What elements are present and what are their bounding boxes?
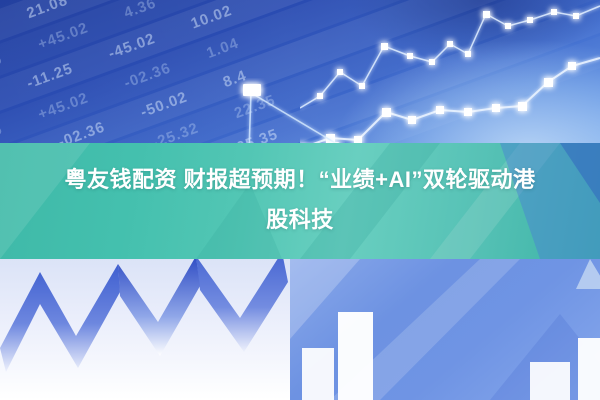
node-chart-upper-line xyxy=(300,6,600,108)
glowing-node-lamp-icon xyxy=(225,78,345,153)
headline-line-2: 股科技 xyxy=(0,200,600,240)
ribbon-segment-mid xyxy=(118,256,200,356)
shine-arrow-tip xyxy=(576,259,600,289)
ribbon-arrow-chart xyxy=(0,252,330,400)
white-bar-chart xyxy=(290,300,600,400)
financial-news-banner: -06.35 -11.25 21.08 45.02 -02.36 -02.36 … xyxy=(0,0,600,400)
bar-item xyxy=(338,312,373,400)
lamp-head xyxy=(243,84,261,96)
node-chart-upper-markers xyxy=(317,9,579,99)
node-line-chart xyxy=(300,0,600,160)
node-chart-lower-series xyxy=(300,58,600,153)
bar-item xyxy=(530,362,570,400)
ribbon-segment-right xyxy=(196,252,288,352)
node-chart-lower-line xyxy=(302,58,600,148)
bar-item xyxy=(302,348,334,400)
ribbon-segment-left xyxy=(0,264,120,372)
headline-text: 粤友钱配资 财报超预期！“业绩+AI”双轮驱动港 股科技 xyxy=(0,160,600,240)
headline-line-1: 粤友钱配资 财报超预期！“业绩+AI”双轮驱动港 xyxy=(0,160,600,200)
node-chart-upper-series xyxy=(300,6,600,108)
bar-item xyxy=(578,338,600,400)
